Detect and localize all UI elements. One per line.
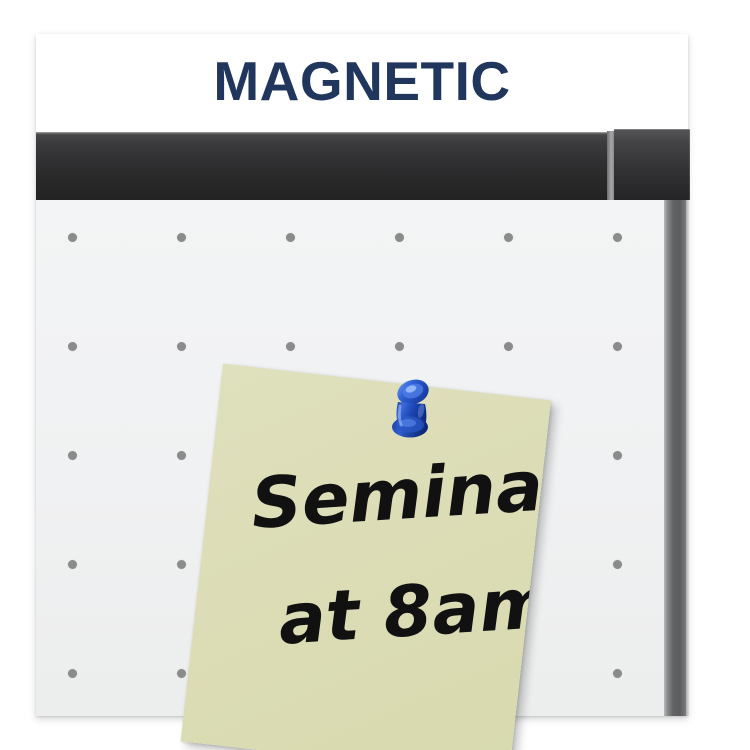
- board-grid-dot: [613, 233, 622, 242]
- board-grid-dot: [177, 560, 186, 569]
- board-grid-dot: [68, 233, 77, 242]
- board-grid-dot: [68, 669, 77, 678]
- board-side-rail: [664, 200, 686, 716]
- board-grid-dot: [286, 342, 295, 351]
- note-line-2: at 8am: [276, 562, 551, 661]
- top-rail-highlight: [36, 132, 613, 135]
- board-side-rail-edge: [686, 200, 689, 716]
- board-grid-dot: [177, 669, 186, 678]
- board-grid-dot: [177, 233, 186, 242]
- board-grid-dot: [504, 342, 513, 351]
- board-grid-dot: [177, 342, 186, 351]
- board-corner-block: [614, 129, 690, 200]
- product-photo-canvas: MAGNETIC Seminar at 8am: [0, 0, 750, 750]
- board-grid-dot: [613, 342, 622, 351]
- board-grid-dot: [395, 342, 404, 351]
- board-top-rail: [36, 132, 613, 200]
- board-grid-dot: [613, 669, 622, 678]
- board-grid-dot: [613, 451, 622, 460]
- sticky-note: Seminar at 8am: [181, 364, 551, 750]
- board-grid-dot: [613, 560, 622, 569]
- board-grid-dot: [68, 560, 77, 569]
- board-grid-dot: [68, 342, 77, 351]
- header-strip: MAGNETIC: [36, 34, 688, 132]
- sticky-note-text: Seminar at 8am: [181, 364, 551, 750]
- board-grid-dot: [177, 451, 186, 460]
- board-grid-dot: [68, 451, 77, 460]
- board-grid-dot: [286, 233, 295, 242]
- board-grid-dot: [504, 233, 513, 242]
- board-grid-dot: [395, 233, 404, 242]
- page-title: MAGNETIC: [213, 54, 510, 109]
- whiteboard-product-card: MAGNETIC Seminar at 8am: [36, 34, 688, 716]
- note-line-1: Seminar: [249, 442, 551, 545]
- push-pin-icon: [381, 378, 439, 440]
